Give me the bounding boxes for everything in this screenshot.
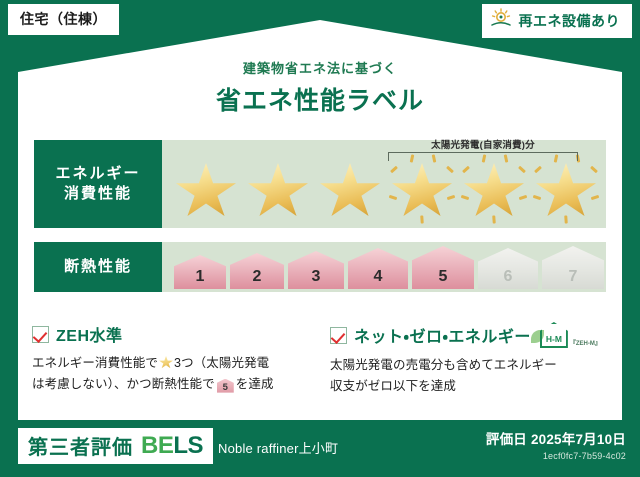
star-icon xyxy=(176,163,236,220)
zehm-logo-tag: 『ZEH-M』 xyxy=(570,338,601,348)
star-icon xyxy=(248,163,308,220)
criteria-zeh-description: エネルギー消費性能で3つ（太陽光発電は考慮しない）、かつ断熱性能で5を達成 xyxy=(32,353,322,394)
property-name: Noble raffiner上小町 xyxy=(218,438,338,457)
star-icon xyxy=(320,163,380,220)
star-icon xyxy=(392,163,452,220)
insulation-label-text: 断熱性能 xyxy=(64,257,132,277)
nze-desc-line2: 収支がゼロ以下を達成 xyxy=(330,379,456,393)
evaluation-date-value: 2025年7月10日 xyxy=(531,432,626,447)
zeh-star-count: 3つ（太陽光発電 xyxy=(174,356,269,370)
housing-type-tag: 住宅（住棟） xyxy=(8,4,119,35)
zeh-desc-part3: を達成 xyxy=(236,377,274,391)
bels-text-part1: BE xyxy=(141,432,173,459)
star-item-solar xyxy=(532,152,600,224)
star-item-solar xyxy=(460,152,528,224)
criteria-zeh-title: ZEH水準 xyxy=(56,322,123,346)
evaluation-date-label: 評価日 xyxy=(486,432,527,447)
insulation-grade-7: 7 xyxy=(542,246,604,289)
criteria-zeh-header: ZEH水準 xyxy=(32,322,322,346)
solar-caption-text: 太陽光発電(自家消費)分 xyxy=(386,137,580,151)
evaluation-uid: 1ecf0fc7-7b59-4c02 xyxy=(486,451,626,461)
renewable-badge-label: 再エネ設備あり xyxy=(519,11,621,31)
energy-label-line2: 消費性能 xyxy=(64,184,132,204)
footer-bar: 第三者評価 BELS Noble raffiner上小町 評価日 2025年7月… xyxy=(0,420,640,477)
insulation-performance-row: 断熱性能 1 2 3 4 5 6 7 xyxy=(34,242,606,292)
insulation-grade-area: 1 2 3 4 5 6 7 xyxy=(162,242,606,292)
star-item xyxy=(172,152,240,224)
bels-text-part2: LS xyxy=(173,432,203,459)
star-icon-inline xyxy=(159,356,173,369)
housing-type-label: 住宅（住棟） xyxy=(20,11,107,27)
evaluation-date: 評価日 2025年7月10日 xyxy=(486,428,626,448)
zehm-logo-text: H-M xyxy=(540,334,568,344)
insulation-grade-5: 5 xyxy=(412,246,474,289)
criteria-nze-header: ネット・ゼロ・エネルギー H-M 『ZEH-M』 xyxy=(330,322,626,348)
label-main-title: 省エネ性能ラベル xyxy=(0,81,640,117)
insulation-grade-strip: 1 2 3 4 5 6 7 xyxy=(162,242,606,292)
page-title: 建築物省エネ法に基づく 省エネ性能ラベル xyxy=(0,58,640,117)
zehm-house-shape: H-M xyxy=(540,322,568,348)
insulation-grade-2: 2 xyxy=(230,253,284,289)
nze-desc-line1: 太陽光発電の売電分も含めてエネルギー xyxy=(330,358,557,372)
insulation-performance-label: 断熱性能 xyxy=(34,242,162,292)
star-item xyxy=(244,152,312,224)
solar-portion-bracket xyxy=(388,152,578,161)
zeh-desc-part2: は考慮しない）、かつ断熱性能で xyxy=(32,377,215,391)
star-item-solar xyxy=(388,152,456,224)
evaluation-info: 評価日 2025年7月10日 1ecf0fc7-7b59-4c02 xyxy=(486,428,626,461)
star-icon xyxy=(464,163,524,220)
star-item xyxy=(316,152,384,224)
zeh-m-logo-icon: H-M 『ZEH-M』 xyxy=(540,322,601,348)
criteria-nze-description: 太陽光発電の売電分も含めてエネルギー収支がゼロ以下を達成 xyxy=(330,355,626,396)
sun-icon xyxy=(490,8,512,33)
label-subtitle: 建築物省エネ法に基づく xyxy=(0,58,640,77)
zeh-desc-part1: エネルギー消費性能で xyxy=(32,356,158,370)
energy-performance-label: エネルギー 消費性能 xyxy=(34,140,162,228)
energy-label-line1: エネルギー xyxy=(55,164,140,184)
insulation-grade-4: 4 xyxy=(348,248,408,289)
bels-certification-logo: 第三者評価 BELS xyxy=(18,428,213,464)
check-icon xyxy=(32,326,49,343)
third-party-eval-label: 第三者評価 xyxy=(28,431,133,460)
solar-portion-caption: 太陽光発電(自家消費)分 xyxy=(386,137,580,151)
insulation-grade-6: 6 xyxy=(478,248,538,289)
label-board: 住宅（住棟） 再エネ設備あり 建築物省エネ法に基づく 省エネ性能ラベル xyxy=(0,0,640,477)
insulation-grade-3: 3 xyxy=(288,251,344,289)
criteria-net-zero-energy: ネット・ゼロ・エネルギー H-M 『ZEH-M』 太陽光発電の売電分も含めてエネ… xyxy=(330,322,626,396)
bels-wordmark: BELS xyxy=(141,432,203,460)
criteria-zeh-standard: ZEH水準 エネルギー消費性能で3つ（太陽光発電は考慮しない）、かつ断熱性能で5… xyxy=(32,322,322,394)
grade-badge-inline: 5 xyxy=(217,379,234,393)
insulation-grade-1: 1 xyxy=(174,255,226,289)
renewable-energy-badge: 再エネ設備あり xyxy=(482,4,633,38)
star-icon xyxy=(536,163,596,220)
check-icon xyxy=(330,327,347,344)
criteria-nze-title: ネット・ゼロ・エネルギー xyxy=(354,323,531,347)
